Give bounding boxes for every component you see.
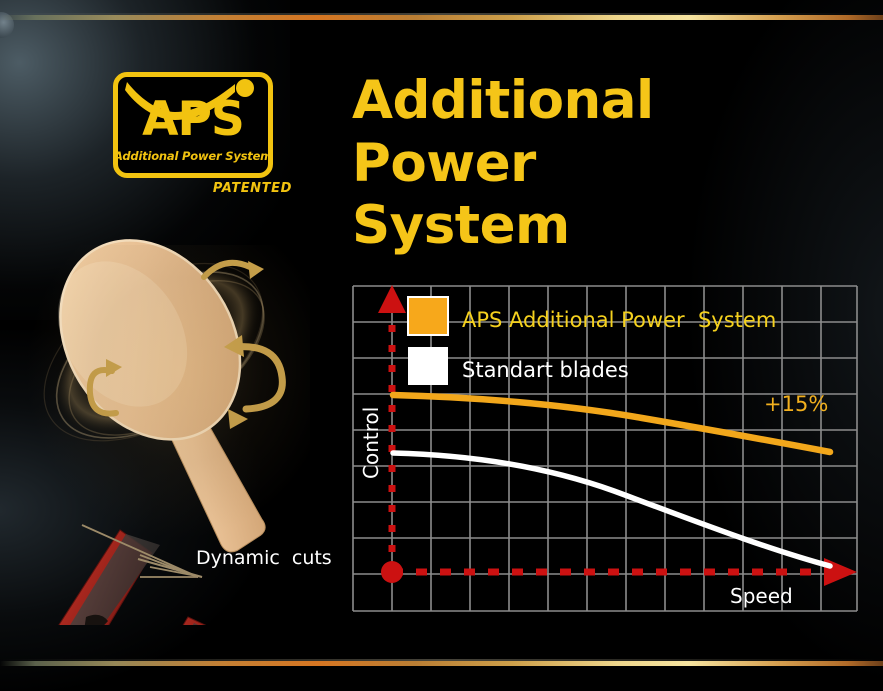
chart-legend: APS Additional Power System Standart bla… [408, 297, 776, 385]
origin-marker [381, 561, 403, 583]
blade-glow [20, 245, 310, 545]
x-axis-arrowhead [824, 558, 857, 586]
slide-canvas: APS Additional Power System PATENTED Add… [0, 0, 883, 691]
dynamic-cut-strip-right [100, 617, 228, 625]
dynamic-cuts-label: Dynamic cuts [196, 547, 332, 569]
gold-divider-bottom [0, 661, 883, 666]
logo-subtitle: Additional Power System [113, 149, 273, 163]
y-axis-title: Control [359, 407, 383, 479]
legend-label-aps: APS Additional Power System [462, 308, 776, 332]
aps-logo: APS Additional Power System PATENTED [113, 72, 273, 178]
page-title-line-2: System [352, 195, 852, 258]
x-axis-title: Speed [730, 584, 793, 608]
annotation-plus-15-percent: +15% [764, 392, 828, 416]
page-title: Additional Power System [352, 70, 852, 258]
control-vs-speed-chart: APS Additional Power System Standart bla… [352, 285, 858, 612]
page-title-line-1: Additional Power [352, 70, 852, 195]
legend-swatch-aps [408, 297, 448, 335]
gold-divider-top [0, 15, 883, 20]
legend-label-standard: Standart blades [462, 358, 629, 382]
logo-wordmark: APS [113, 96, 273, 143]
series-line-standard [393, 453, 830, 566]
logo-patented-text: PATENTED [113, 181, 292, 196]
legend-swatch-standard [408, 347, 448, 385]
y-axis-arrowhead [378, 285, 406, 313]
